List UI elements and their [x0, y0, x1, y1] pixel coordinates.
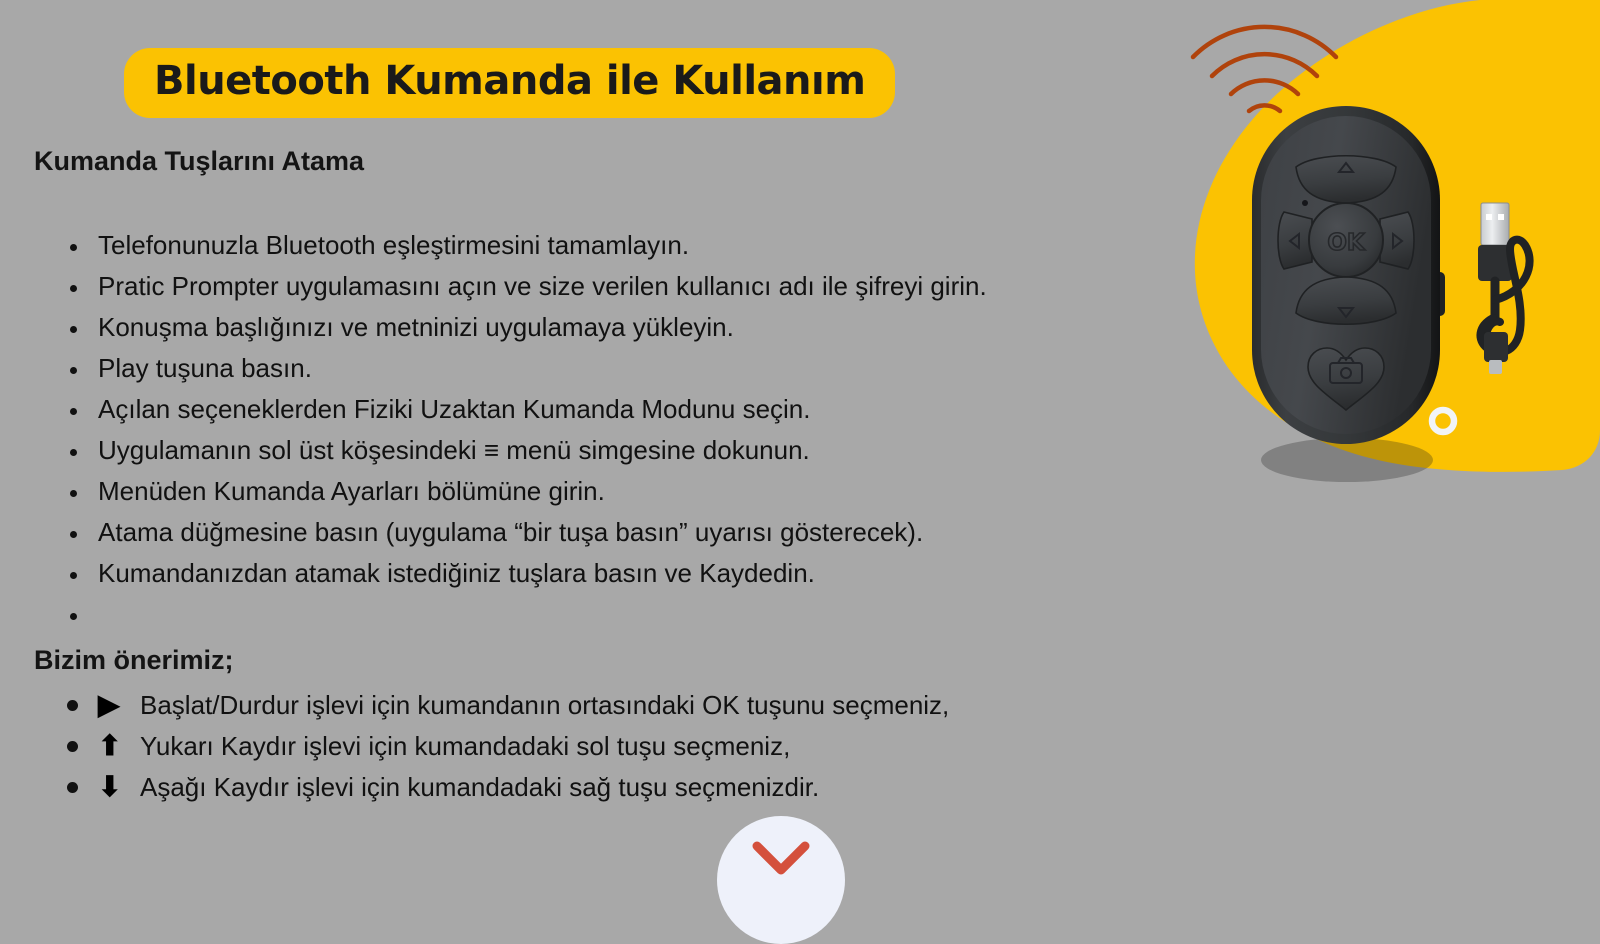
- instruction-step-text: Kumandanızdan atamak istediğiniz tuşlara…: [98, 558, 815, 588]
- instruction-step: Pratic Prompter uygulamasını açın ve siz…: [34, 266, 1284, 307]
- instruction-step: [34, 594, 1284, 635]
- recommendation-item: ⬆Yukarı Kaydır işlevi için kumandadaki s…: [34, 725, 1334, 766]
- arrow-down-icon: ⬇: [98, 766, 140, 807]
- instruction-step-text: Açılan seçeneklerden Fiziki Uzaktan Kuma…: [98, 394, 811, 424]
- slide-content: Bluetooth Kumanda ile Kullanım Kumanda T…: [0, 0, 1600, 900]
- recommendation-item-text: Yukarı Kaydır işlevi için kumandadaki so…: [140, 731, 790, 761]
- instruction-step-text: Play tuşuna basın.: [98, 353, 312, 383]
- instruction-step-text: Konuşma başlığınızı ve metninizi uygulam…: [98, 312, 734, 342]
- chevron-down-icon: [751, 838, 811, 880]
- recommendation-list: ▶Başlat/Durdur işlevi için kumandanın or…: [34, 684, 1334, 807]
- page-title: Bluetooth Kumanda ile Kullanım: [154, 60, 865, 102]
- page-title-pill: Bluetooth Kumanda ile Kullanım: [124, 48, 895, 118]
- scroll-down-button[interactable]: [717, 816, 845, 944]
- instruction-step: Play tuşuna basın.: [34, 348, 1284, 389]
- instruction-step: Atama düğmesine basın (uygulama “bir tuş…: [34, 512, 1284, 553]
- instruction-step: Menüden Kumanda Ayarları bölümüne girin.: [34, 471, 1284, 512]
- section-heading: Kumanda Tuşlarını Atama: [34, 146, 364, 177]
- instruction-step: Açılan seçeneklerden Fiziki Uzaktan Kuma…: [34, 389, 1284, 430]
- recommendation-item-text: Başlat/Durdur işlevi için kumandanın ort…: [140, 690, 949, 720]
- arrow-up-icon: ⬆: [98, 725, 140, 766]
- instruction-step: Telefonunuzla Bluetooth eşleştirmesini t…: [34, 225, 1284, 266]
- recommendation-heading: Bizim önerimiz;: [34, 645, 234, 676]
- instruction-step: Uygulamanın sol üst köşesindeki ≡ menü s…: [34, 430, 1284, 471]
- play-icon: ▶: [98, 684, 140, 725]
- instruction-steps-list: Telefonunuzla Bluetooth eşleştirmesini t…: [34, 225, 1284, 635]
- recommendation-item: ▶Başlat/Durdur işlevi için kumandanın or…: [34, 684, 1334, 725]
- instruction-step-text: Atama düğmesine basın (uygulama “bir tuş…: [98, 517, 923, 547]
- instruction-step: Kumandanızdan atamak istediğiniz tuşlara…: [34, 553, 1284, 594]
- instruction-step-text: Pratic Prompter uygulamasını açın ve siz…: [98, 271, 987, 301]
- instruction-step-text: Uygulamanın sol üst köşesindeki ≡ menü s…: [98, 435, 810, 465]
- recommendation-item: ⬇Aşağı Kaydır işlevi için kumandadaki sa…: [34, 766, 1334, 807]
- instruction-step-text: Menüden Kumanda Ayarları bölümüne girin.: [98, 476, 605, 506]
- recommendation-item-text: Aşağı Kaydır işlevi için kumandadaki sağ…: [140, 772, 819, 802]
- instruction-step-text: Telefonunuzla Bluetooth eşleştirmesini t…: [98, 230, 689, 260]
- instruction-step: Konuşma başlığınızı ve metninizi uygulam…: [34, 307, 1284, 348]
